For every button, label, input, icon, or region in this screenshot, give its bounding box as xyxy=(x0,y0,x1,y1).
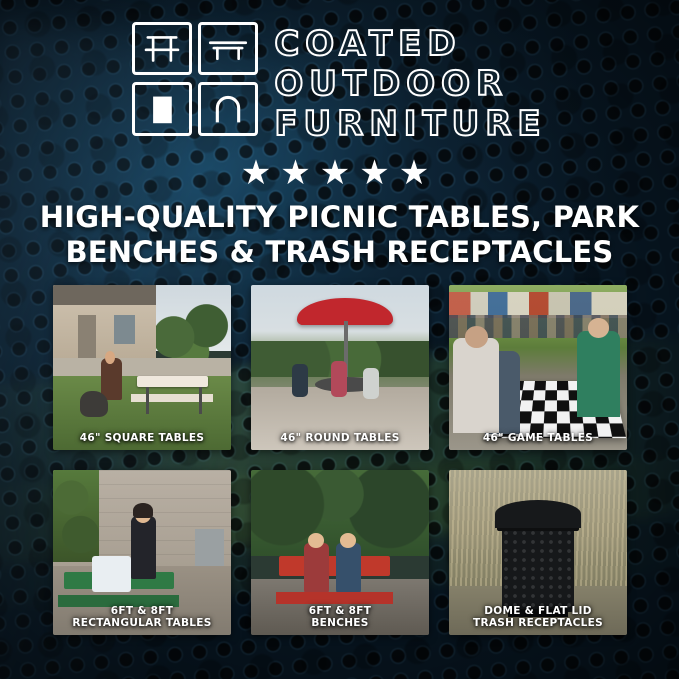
gallery-tile-trash-receptacles[interactable]: DOME & FLAT LID TRASH RECEPTACLES xyxy=(449,470,627,635)
logo-mark-icon xyxy=(132,22,258,136)
product-gallery: 46" SQUARE TABLES 46" ROUND TABLES 46" G… xyxy=(53,285,627,635)
page-title: HIGH-QUALITY PICNIC TABLES, PARK BENCHES… xyxy=(30,200,649,271)
photo-game-tables xyxy=(449,285,627,450)
gallery-caption: 46" SQUARE TABLES xyxy=(53,432,231,444)
gallery-tile-square-tables[interactable]: 46" SQUARE TABLES xyxy=(53,285,231,450)
photo-round-tables xyxy=(251,285,429,450)
gallery-caption-line-1: 6FT & 8FT xyxy=(255,605,425,617)
park-bench-icon xyxy=(198,22,258,75)
brand-name-line-3: FURNITURE xyxy=(274,106,546,142)
gallery-tile-rectangular-tables[interactable]: 6FT & 8FT RECTANGULAR TABLES xyxy=(53,470,231,635)
gallery-caption-line-1: 46" ROUND TABLES xyxy=(280,432,399,444)
gallery-caption-line-1: 6FT & 8FT xyxy=(57,605,227,617)
gallery-caption: 6FT & 8FT RECTANGULAR TABLES xyxy=(53,605,231,629)
star-icon-5: ★ xyxy=(399,156,438,190)
brand-wordmark: COATED OUTDOOR FURNITURE xyxy=(274,22,546,142)
brand-logo: COATED OUTDOOR FURNITURE xyxy=(0,22,679,142)
gallery-caption-line-1: 46" GAME TABLES xyxy=(483,432,593,444)
gallery-caption: 6FT & 8FT BENCHES xyxy=(251,605,429,629)
brand-name-line-1: COATED xyxy=(274,26,546,62)
gallery-tile-game-tables[interactable]: 46" GAME TABLES xyxy=(449,285,627,450)
gallery-caption: DOME & FLAT LID TRASH RECEPTACLES xyxy=(449,605,627,629)
star-icon-2: ★ xyxy=(280,156,319,190)
brand-name-line-2: OUTDOOR xyxy=(274,66,546,102)
star-icon-4: ★ xyxy=(359,156,398,190)
rating-stars: ★★★★★ xyxy=(0,156,679,190)
headline-line-2: BENCHES & TRASH RECEPTACLES xyxy=(30,235,649,270)
gallery-caption-line-1: DOME & FLAT LID xyxy=(453,605,623,617)
gallery-caption-line-2: RECTANGULAR TABLES xyxy=(57,617,227,629)
gallery-caption: 46" GAME TABLES xyxy=(449,432,627,444)
product-banner-image: COATED OUTDOOR FURNITURE ★★★★★ HIGH-QUAL… xyxy=(0,0,679,679)
gallery-caption: 46" ROUND TABLES xyxy=(251,432,429,444)
photo-square-tables xyxy=(53,285,231,450)
star-icon-3: ★ xyxy=(320,156,359,190)
headline-line-1: HIGH-QUALITY PICNIC TABLES, PARK xyxy=(30,200,649,235)
gallery-tile-round-tables[interactable]: 46" ROUND TABLES xyxy=(251,285,429,450)
picnic-table-icon xyxy=(132,22,192,75)
trash-receptacle-icon xyxy=(132,82,192,136)
gallery-caption-line-2: TRASH RECEPTACLES xyxy=(453,617,623,629)
gallery-tile-benches[interactable]: 6FT & 8FT BENCHES xyxy=(251,470,429,635)
gallery-caption-line-2: BENCHES xyxy=(255,617,425,629)
star-icon-1: ★ xyxy=(241,156,280,190)
arched-bench-icon xyxy=(198,82,258,136)
gallery-caption-line-1: 46" SQUARE TABLES xyxy=(80,432,204,444)
